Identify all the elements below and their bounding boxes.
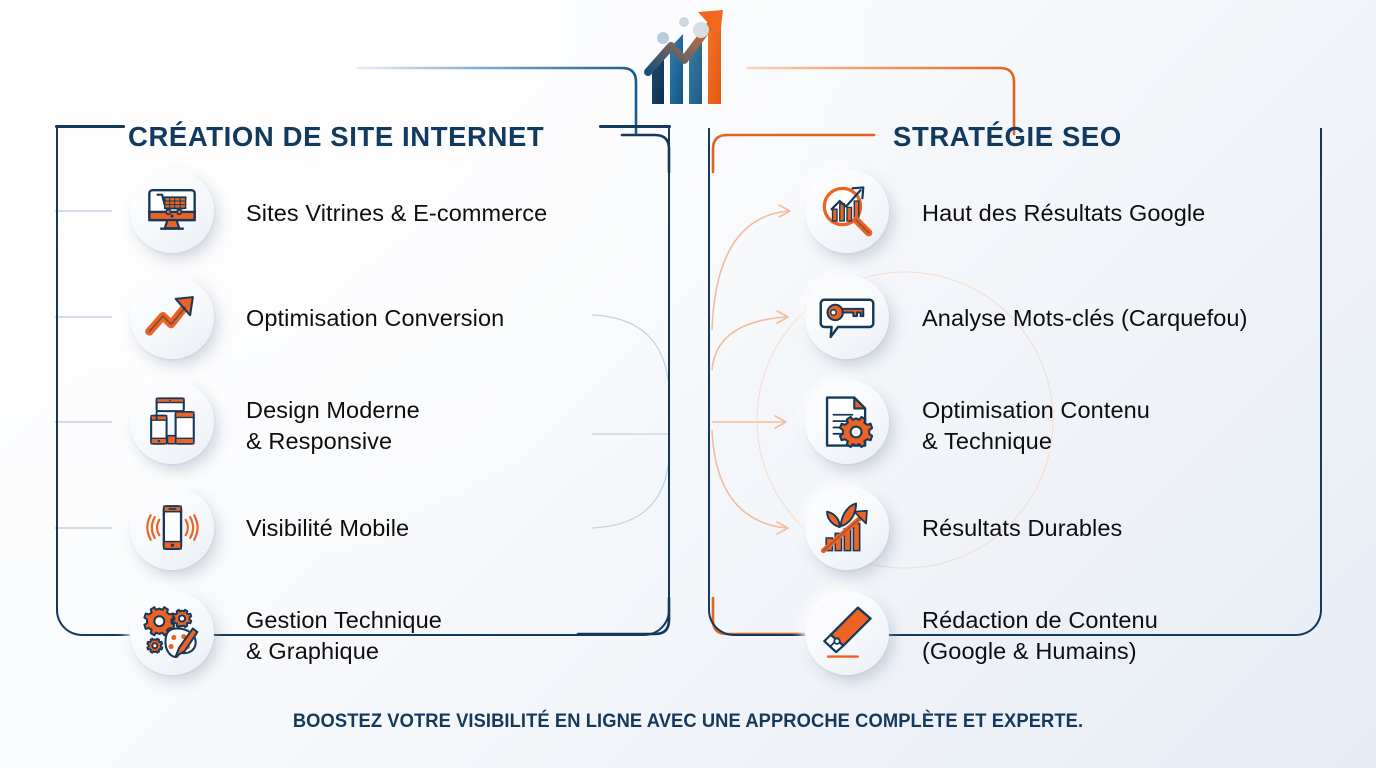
responsive-devices-icon — [130, 380, 214, 464]
right-column-title: STRATÉGIE SEO — [893, 121, 1122, 153]
right-item-label-4: Résultats Durables — [922, 513, 1122, 544]
key-speech-bubble-icon — [805, 275, 889, 359]
left-item-label-1: Sites Vitrines & E-commerce — [246, 198, 547, 229]
left-column-title: CRÉATION DE SITE INTERNET — [128, 121, 544, 153]
growth-chart-logo — [626, 2, 766, 108]
magnifier-chart-icon — [805, 169, 889, 253]
document-gear-icon — [805, 380, 889, 464]
fountain-pen-icon — [805, 591, 889, 675]
ecommerce-monitor-icon — [130, 169, 214, 253]
left-item-label-2: Optimisation Conversion — [246, 303, 504, 334]
left-item-label-5: Gestion Technique & Graphique — [246, 605, 442, 668]
right-item-label-3: Optimisation Contenu & Technique — [922, 395, 1150, 458]
right-item-label-2: Analyse Mots-clés (Carquefou) — [922, 303, 1248, 334]
gears-palette-icon — [130, 591, 214, 675]
growth-arrow-icon — [130, 275, 214, 359]
right-item-label-5: Rédaction de Contenu (Google & Humains) — [922, 605, 1158, 668]
left-item-label-4: Visibilité Mobile — [246, 513, 409, 544]
plant-growth-chart-icon — [805, 486, 889, 570]
footer-tagline: BOOSTEZ VOTRE VISIBILITÉ EN LIGNE AVEC U… — [41, 710, 1334, 733]
mobile-signal-icon — [130, 486, 214, 570]
left-item-label-3: Design Moderne & Responsive — [246, 395, 420, 458]
infographic-canvas: CRÉATION DE SITE INTERNET STRATÉGIE SEO … — [0, 0, 1376, 768]
right-item-label-1: Haut des Résultats Google — [922, 198, 1205, 229]
